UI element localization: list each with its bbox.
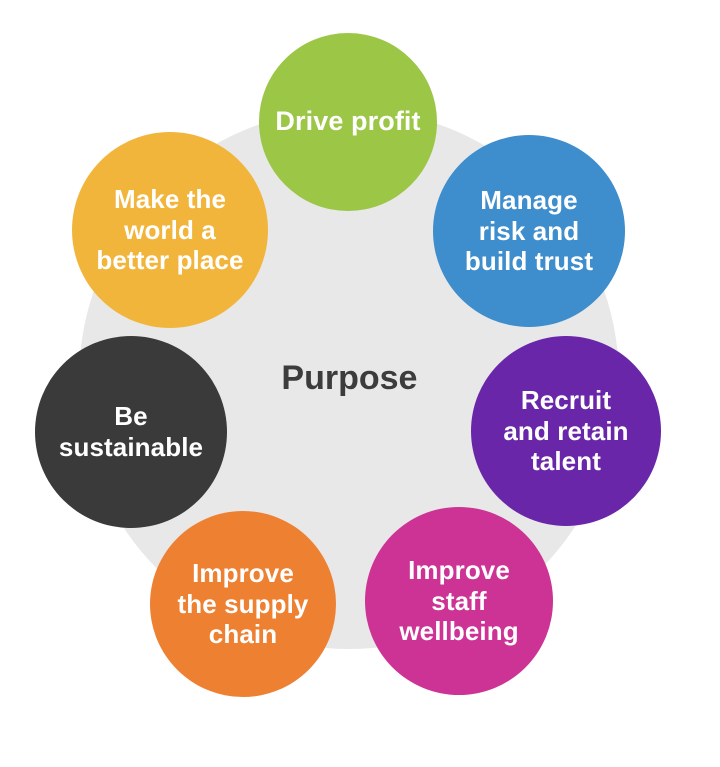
node-improve-the-supply-chain[interactable]: Improve the supply chain <box>150 511 336 697</box>
purpose-wheel-diagram: Drive profit Manage risk and build trust… <box>0 0 720 767</box>
node-be-sustainable[interactable]: Be sustainable <box>35 336 227 528</box>
node-label-recruit-and-retain-talent: Recruit and retain talent <box>477 385 656 477</box>
node-manage-risk-and-build-trust[interactable]: Manage risk and build trust <box>433 135 625 327</box>
node-label-improve-staff-wellbeing: Improve staff wellbeing <box>371 555 548 647</box>
node-recruit-and-retain-talent[interactable]: Recruit and retain talent <box>471 336 661 526</box>
node-make-the-world-a-better-place[interactable]: Make the world a better place <box>72 132 268 328</box>
node-drive-profit[interactable]: Drive profit <box>259 33 437 211</box>
node-improve-staff-wellbeing[interactable]: Improve staff wellbeing <box>365 507 553 695</box>
node-label-drive-profit: Drive profit <box>264 106 431 138</box>
node-label-improve-the-supply-chain: Improve the supply chain <box>156 558 331 650</box>
node-label-make-the-world-a-better-place: Make the world a better place <box>78 184 262 276</box>
center-purpose-label: Purpose <box>219 349 479 409</box>
node-label-be-sustainable: Be sustainable <box>41 401 221 462</box>
node-label-manage-risk-and-build-trust: Manage risk and build trust <box>439 185 619 277</box>
